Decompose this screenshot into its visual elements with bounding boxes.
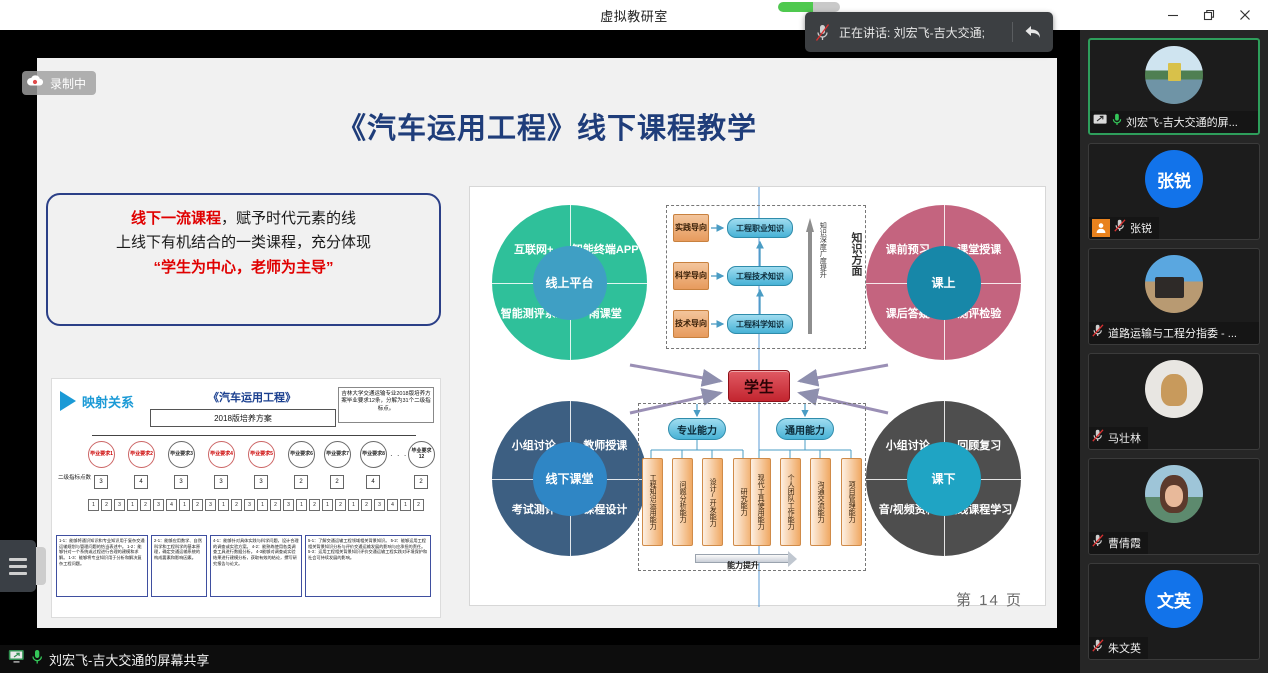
leaf-node: 1 <box>257 499 268 511</box>
minimize-button[interactable] <box>1156 1 1190 29</box>
knowledge-box: 工程科学知识 <box>727 314 793 334</box>
window-controls <box>1156 0 1262 30</box>
leaf-node: 1 <box>322 499 333 511</box>
tool-tab-handle[interactable] <box>36 547 46 585</box>
speaking-indicator[interactable]: 正在讲话: 刘宏飞-吉大交通; <box>805 12 1053 52</box>
graduation-requirement-node: 毕业要求3 <box>168 441 195 468</box>
leaf-node: 1 <box>127 499 138 511</box>
graduation-requirement-node: 毕业要求6 <box>288 441 315 468</box>
avatar <box>1145 255 1203 313</box>
leaf-node: 3 <box>205 499 216 511</box>
menu-bar <box>9 565 27 568</box>
leaf-node: 1 <box>348 499 359 511</box>
mapping-ellipsis: · · · <box>390 451 407 460</box>
circle-after-class: 小组讨论 回顾复习 音/视频资料 在线课程学习 课下 <box>866 401 1021 556</box>
leaf-node: 2 <box>101 499 112 511</box>
requirement-detail-box: 4-1：能够针对具体实践与科学问题，设计合理的调查或实验方案。 4-2：能熟练使… <box>210 535 302 597</box>
knowledge-box: 工程职业知识 <box>727 218 793 238</box>
requirement-count-box: 3 <box>94 475 108 489</box>
leaf-node: 2 <box>140 499 151 511</box>
graduation-requirement-node: 毕业要求1 <box>88 441 115 468</box>
avatar: 文英 <box>1145 570 1203 628</box>
graduation-requirement-node: 毕业要求5 <box>248 441 275 468</box>
graduation-requirement-node: 毕业要求7 <box>324 441 351 468</box>
mapping-relation-figure: 映射关系 《汽车运用工程》 2018版培养方案 吉林大学交通运输专业2018版培… <box>51 378 441 618</box>
requirement-count-box: 2 <box>294 475 308 489</box>
requirement-count-box: 3 <box>174 475 188 489</box>
blurb-line-2: 上线下有机结合的一类课程，充分体现 <box>62 231 425 255</box>
microphone-icon <box>1112 113 1122 131</box>
mapping-index-label: 二级指标点数 <box>58 475 91 482</box>
screen-share-icon <box>8 649 25 669</box>
leaf-node: 3 <box>374 499 385 511</box>
avatar-wrap: 文英 <box>1089 570 1259 628</box>
graduation-requirement-node: 毕业要求4 <box>208 441 235 468</box>
requirement-detail-box: 5-1：了解交通运输工程领域相关背景知识。 5-2：能够运用工程相关背景知识分析… <box>305 535 431 597</box>
orientation-box: 科学导向 <box>673 262 709 290</box>
teaching-model-diagram: 互联网+ 智能终端APP 智能测评系统 雨课堂 线上平台 课前预习 课堂授课 课… <box>469 186 1046 606</box>
mapping-detail-row: 1-1：能够将通识知识和专业知识用于复杂交通运输规划与管理问题的恰当表述中。 1… <box>56 535 438 597</box>
blurb-highlight-1: 线下一流课程 <box>131 210 221 227</box>
circle-in-class: 课前预习 课堂授课 课后答疑 测评检验 课上 <box>866 205 1021 360</box>
leaf-node: 4 <box>166 499 177 511</box>
knowledge-box: 工程技术知识 <box>727 266 793 286</box>
participant-footer: 曹倩霞 <box>1089 532 1148 554</box>
circle-hub-label: 课下 <box>907 442 981 516</box>
triangle-bullet-icon <box>60 391 76 411</box>
requirement-count-box: 2 <box>414 475 428 489</box>
participant-name: 曹倩霞 <box>1108 535 1141 551</box>
menu-list-icon <box>9 558 27 575</box>
leaf-node: 3 <box>283 499 294 511</box>
mapping-header: 映射关系 <box>60 391 134 411</box>
circle-hub-label: 线下课堂 <box>533 442 607 516</box>
back-arrow-icon[interactable] <box>1013 24 1053 40</box>
requirement-count-box: 3 <box>214 475 228 489</box>
participant-footer: 马壮林 <box>1089 427 1148 449</box>
screen-share-status-bar: 刘宏飞-吉大交通的屏幕共享 <box>0 645 1080 673</box>
participant-name: 道路运输与工程分指委 - ... <box>1108 325 1237 341</box>
ability-box: 问题分析能力 <box>672 458 693 546</box>
participant-tile[interactable]: 张锐 张锐 <box>1088 143 1260 240</box>
knowledge-side-label: 知识方面 <box>849 232 861 276</box>
leaf-node: 1 <box>296 499 307 511</box>
presentation-slide: 《汽车运用工程》线下课程教学 线下一流课程，赋予时代元素的线 上线下有机结合的一… <box>37 58 1057 628</box>
participant-tile[interactable]: 文英 朱文英 <box>1088 563 1260 660</box>
microphone-muted-icon <box>1092 534 1104 552</box>
requirement-count-box: 2 <box>330 475 344 489</box>
course-blurb-box: 线下一流课程，赋予时代元素的线 上线下有机结合的一类课程，充分体现 “学生为中心… <box>46 193 441 326</box>
mapping-course-title: 《汽车运用工程》 <box>172 389 332 405</box>
leaf-node: 2 <box>413 499 424 511</box>
leaf-node: 3 <box>244 499 255 511</box>
participant-name: 刘宏飞-吉大交通的屏... <box>1126 114 1238 130</box>
requirement-detail-box: 2-1：能够应用数学、自然科学和工程科学的基本原理，确定交通运输系统的构成要素和… <box>151 535 207 597</box>
close-button[interactable] <box>1228 1 1262 29</box>
microphone-muted-icon <box>805 23 839 42</box>
mapping-bus-line <box>92 435 416 436</box>
ability-box: 个人团队工作能力 <box>780 458 801 546</box>
leaf-node: 2 <box>270 499 281 511</box>
recording-label: 录制中 <box>50 75 86 92</box>
requirement-count-box: 4 <box>366 475 380 489</box>
graduation-requirement-node: 毕业要求12 <box>408 441 435 468</box>
ability-box: 沟通交流能力 <box>810 458 831 546</box>
avatar <box>1145 465 1203 523</box>
knowledge-axis-label: 知识深度广度提升 <box>819 222 826 278</box>
mapping-leaf-row: 123 1234 123 123 123 12 12 1234 12 <box>88 499 424 511</box>
volume-meter-fill <box>778 2 813 12</box>
ability-group-label: 专业能力 <box>668 418 726 440</box>
ability-group-label: 通用能力 <box>776 418 834 440</box>
requirement-count-box: 3 <box>254 475 268 489</box>
microphone-muted-icon <box>1092 639 1104 657</box>
recording-badge: 录制中 <box>22 71 96 95</box>
circle-hub-label: 线上平台 <box>533 246 607 320</box>
blurb-line-1: 线下一流课程，赋予时代元素的线 <box>62 207 425 231</box>
meeting-window: 虚拟教研室 <box>0 0 1268 673</box>
menu-bar <box>9 572 27 575</box>
mapping-plan-box: 2018版培养方案 <box>150 409 336 427</box>
ability-panel: 专业能力 通用能力 工程知识运用能力 问题分析能力 设计/开发能力 研究能力 现… <box>638 403 866 571</box>
avatar-wrap <box>1089 255 1259 313</box>
microphone-icon <box>31 649 43 670</box>
mapping-note-box: 吉林大学交通运输专业2018版培养方案毕业要求12条，分解为31个二级指标点。 <box>338 387 434 423</box>
blurb-highlight-2: “学生为中心，老师为主导” <box>62 256 425 280</box>
leaf-node: 2 <box>231 499 242 511</box>
slide-page-number: 第 14 页 <box>956 589 1023 610</box>
leaf-node: 2 <box>192 499 203 511</box>
ability-box: 设计/开发能力 <box>702 458 723 546</box>
ability-box: 现代工具使用能力 <box>750 458 771 546</box>
avatar-wrap <box>1090 46 1258 104</box>
microphone-muted-icon <box>1092 324 1104 342</box>
ability-box: 项目管理能力 <box>841 458 862 546</box>
participant-tile[interactable]: 刘宏飞-吉大交通的屏... <box>1088 38 1260 135</box>
orientation-box: 技术导向 <box>673 310 709 338</box>
orientation-box: 实践导向 <box>673 214 709 242</box>
circle-online-platform: 互联网+ 智能终端APP 智能测评系统 雨课堂 线上平台 <box>492 205 647 360</box>
participant-footer: 刘宏飞-吉大交通的屏... <box>1090 111 1258 133</box>
microphone-muted-icon <box>1114 219 1126 237</box>
circle-offline-classroom: 小组讨论 教师授课 考试测评 课程设计 线下课堂 <box>492 401 647 556</box>
graduation-requirement-node: 毕业要求2 <box>128 441 155 468</box>
avatar-wrap <box>1089 360 1259 418</box>
participant-tile[interactable]: 道路运输与工程分指委 - ... <box>1088 248 1260 345</box>
participant-tile[interactable]: 马壮林 <box>1088 353 1260 450</box>
participant-name: 马壮林 <box>1108 430 1141 446</box>
avatar <box>1145 46 1203 104</box>
leaf-node: 2 <box>361 499 372 511</box>
ability-axis-label: 能力提升 <box>727 560 759 571</box>
knowledge-panel: 实践导向 科学导向 技术导向 工程职业知识 工程技术知识 工程科学知识 知识深度… <box>666 205 866 349</box>
participant-name: 朱文英 <box>1108 640 1141 656</box>
host-badge-icon <box>1092 219 1110 237</box>
leaf-node: 1 <box>218 499 229 511</box>
leaf-node: 2 <box>309 499 320 511</box>
ability-box: 工程知识运用能力 <box>642 458 663 546</box>
tool-tab-button[interactable] <box>0 540 36 592</box>
leaf-node: 1 <box>88 499 99 511</box>
participant-footer: 朱文英 <box>1089 637 1148 659</box>
leaf-node: 2 <box>335 499 346 511</box>
participant-footer: 道路运输与工程分指委 - ... <box>1089 322 1259 344</box>
speaking-text: 正在讲话: 刘宏飞-吉大交通; <box>839 24 1012 41</box>
mapping-heading: 映射关系 <box>82 392 134 411</box>
avatar-wrap <box>1089 465 1259 523</box>
window-title: 虚拟教研室 <box>600 6 668 25</box>
circle-hub-label: 课上 <box>907 246 981 320</box>
graduation-requirement-node: 毕业要求8 <box>360 441 387 468</box>
microphone-muted-icon <box>1092 429 1104 447</box>
blurb-text-1: ，赋予时代元素的线 <box>221 210 356 227</box>
share-status-text: 刘宏飞-吉大交通的屏幕共享 <box>49 650 209 669</box>
avatar <box>1145 360 1203 418</box>
restore-button[interactable] <box>1192 1 1226 29</box>
leaf-node: 4 <box>387 499 398 511</box>
student-center-node: 学生 <box>728 370 790 402</box>
leaf-node: 3 <box>153 499 164 511</box>
participant-name: 张锐 <box>1130 220 1152 236</box>
screen-share-icon <box>1093 113 1108 131</box>
slide-title: 《汽车运用工程》线下课程教学 <box>37 105 1057 147</box>
leaf-node: 3 <box>114 499 125 511</box>
avatar: 张锐 <box>1145 150 1203 208</box>
title-bar: 虚拟教研室 <box>0 0 1268 30</box>
participant-footer: 张锐 <box>1089 217 1159 239</box>
participant-rail[interactable]: 刘宏飞-吉大交通的屏... 张锐 <box>1080 30 1268 673</box>
leaf-node: 1 <box>179 499 190 511</box>
cloud-record-icon <box>26 74 44 93</box>
requirement-count-box: 4 <box>134 475 148 489</box>
shared-screen-stage: 录制中 《汽车运用工程》线下课程教学 线下一流课程，赋予时代元素的线 上线下有机… <box>0 30 1080 645</box>
requirement-detail-box: 1-1：能够将通识知识和专业知识用于复杂交通运输规划与管理问题的恰当表述中。 1… <box>56 535 148 597</box>
volume-meter <box>778 2 840 12</box>
avatar-wrap: 张锐 <box>1089 150 1259 208</box>
participant-tile[interactable]: 曹倩霞 <box>1088 458 1260 555</box>
leaf-node: 1 <box>400 499 411 511</box>
menu-bar <box>9 558 27 561</box>
